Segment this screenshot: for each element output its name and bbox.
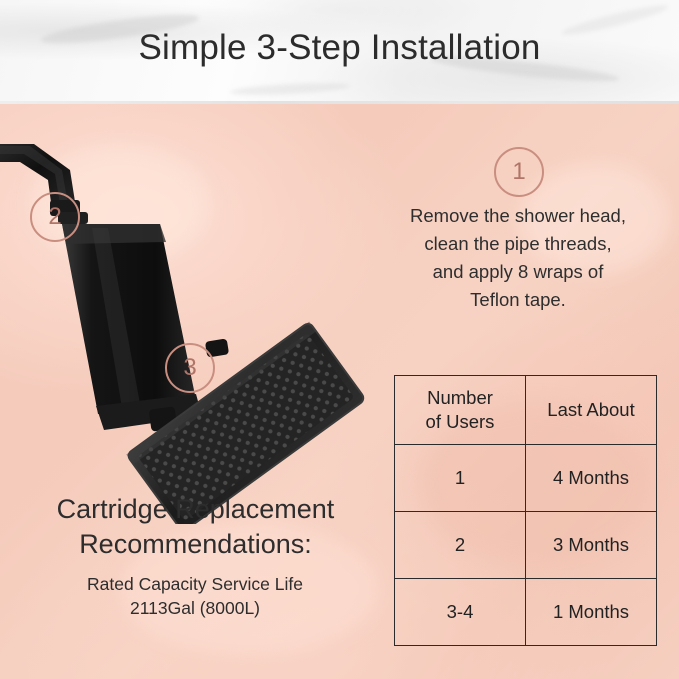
cartridge-capacity: Rated Capacity Service Life 2113Gal (800… (20, 572, 370, 620)
step-1-line-4: Teflon tape. (382, 286, 654, 314)
step-1-badge: 1 (494, 147, 544, 197)
table-row: 2 3 Months (395, 512, 657, 579)
cartridge-heading: Cartridge Replacement Recommendations: (8, 492, 383, 562)
cartridge-capacity-line-2: 2113Gal (8000L) (20, 596, 370, 620)
shower-illustration (0, 104, 460, 524)
header-band: Simple 3-Step Installation (0, 0, 679, 104)
step-2-badge: 2 (30, 192, 80, 242)
table-header-users: Number of Users (395, 376, 526, 445)
replacement-interval-table: Number of Users Last About 1 4 Months 2 … (394, 375, 657, 646)
cartridge-capacity-line-1: Rated Capacity Service Life (20, 572, 370, 596)
step-1-line-3: and apply 8 wraps of (382, 258, 654, 286)
cartridge-heading-line-1: Cartridge Replacement (8, 492, 383, 527)
cartridge-heading-line-2: Recommendations: (8, 527, 383, 562)
step-1-line-2: clean the pipe threads, (382, 230, 654, 258)
step-3-badge: 3 (165, 343, 215, 393)
page-title: Simple 3-Step Installation (0, 28, 679, 68)
table-cell-duration: 3 Months (526, 512, 657, 579)
table-cell-duration: 4 Months (526, 445, 657, 512)
marble-vein (230, 81, 350, 97)
table-header-users-line-2: of Users (395, 410, 525, 434)
table-header-duration: Last About (526, 376, 657, 445)
step-1-instruction: Remove the shower head, clean the pipe t… (382, 202, 654, 314)
step-1-line-1: Remove the shower head, (382, 202, 654, 230)
table-row: 1 4 Months (395, 445, 657, 512)
table-cell-users: 3-4 (395, 579, 526, 646)
table-cell-users: 2 (395, 512, 526, 579)
table-header-row: Number of Users Last About (395, 376, 657, 445)
table-cell-users: 1 (395, 445, 526, 512)
table-row: 3-4 1 Months (395, 579, 657, 646)
product-infographic: Simple 3-Step Installation (0, 0, 679, 679)
table-cell-duration: 1 Months (526, 579, 657, 646)
table-header-users-line-1: Number (395, 386, 525, 410)
